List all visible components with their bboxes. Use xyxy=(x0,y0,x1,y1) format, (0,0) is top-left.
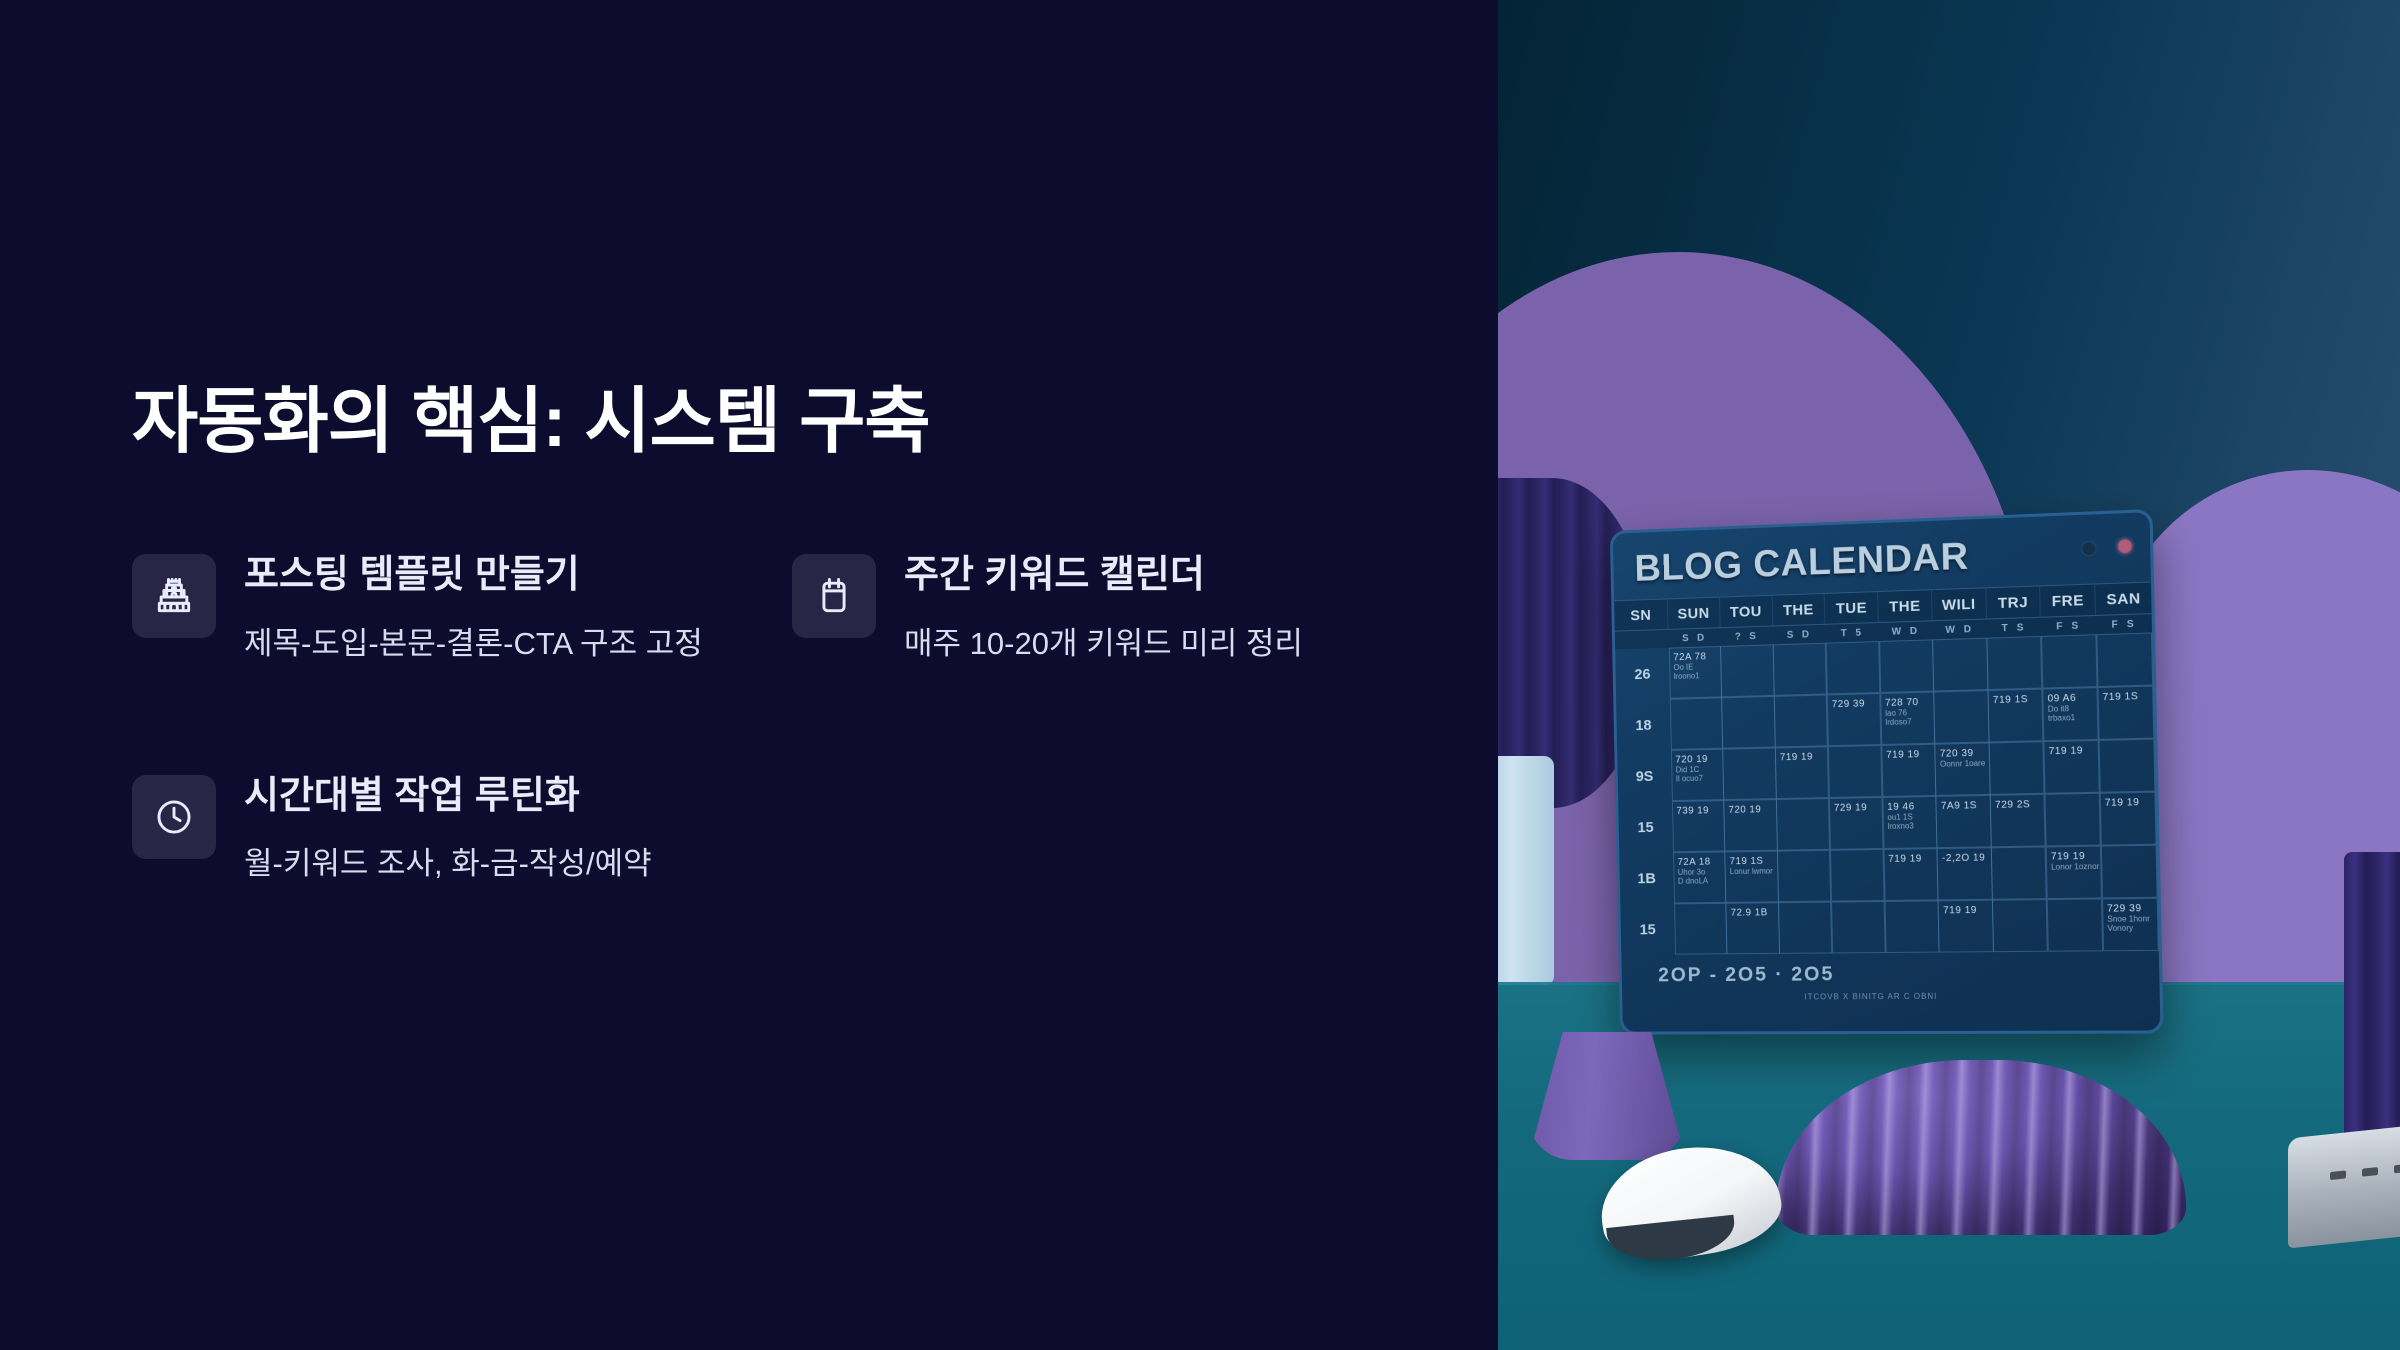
calendar-cell-text: Oonnr 1oare xyxy=(1940,758,1986,768)
calendar-week-number: 15 xyxy=(1618,801,1673,853)
card-body: 주간 키워드 캘린더 매주 10-20개 키워드 미리 정리 xyxy=(904,552,1303,667)
calendar-grid: 2672A 78Oo IElroono118729 39728 70lao 76… xyxy=(1615,632,2159,955)
calendar-cell-text: Lonur lwmor xyxy=(1730,866,1774,876)
calendar-cell xyxy=(1721,695,1775,748)
row-spacer xyxy=(132,667,1432,773)
calendar-subheader: W D xyxy=(1933,620,1987,640)
tablet-footer-sub: ITCOVB X BINITG AR C OBNI xyxy=(1804,991,2159,1002)
calendar-cell: 720 39Oonnr 1oare xyxy=(1935,742,1991,796)
calendar-cell-text: lrdoso7 xyxy=(1885,716,1930,726)
calendar-day-header: SN xyxy=(1614,599,1668,630)
calendar-cell-text: 719 1S xyxy=(2102,690,2149,702)
calendar-cell-text: 719 1S xyxy=(1729,855,1773,867)
calendar-cell: 09 A6Do it8trbaxo1 xyxy=(2042,687,2099,742)
card-description: 제목-도입-본문-결론-CTA 구조 고정 xyxy=(244,620,703,667)
temple-icon xyxy=(152,574,196,618)
left-content-panel: 자동화의 핵심: 시스템 구축 xyxy=(0,0,1498,1350)
calendar-cell-text: lroxno3 xyxy=(1888,821,1933,831)
calendar-day-header: TOU xyxy=(1720,596,1773,627)
calendar-cell-text: 719 19 xyxy=(1943,904,1989,916)
calendar-cell-text: 729 19 xyxy=(1834,802,1879,814)
camera-dot-icon xyxy=(2081,541,2097,557)
clock-icon xyxy=(152,795,196,839)
calendar-cell: 72.9 1B xyxy=(1726,902,1780,955)
calendar-cell-text: 719 19 xyxy=(2051,850,2098,862)
calendar-cell: 729 39 xyxy=(1827,692,1882,746)
slide-root: 자동화의 핵심: 시스템 구축 xyxy=(0,0,2400,1350)
calendar-cell xyxy=(1987,635,2043,690)
calendar-cell-text: 719 19 xyxy=(1888,853,1933,865)
card-description: 매주 10-20개 키워드 미리 정리 xyxy=(904,620,1303,667)
calendar-cell: 729 19 xyxy=(1829,796,1884,849)
calendar-cell xyxy=(1989,741,2045,795)
calendar-cell xyxy=(1674,902,1728,954)
calendar-subheader xyxy=(1615,630,1669,649)
calendar-week-number: 18 xyxy=(1616,699,1671,751)
calendar-week-number: 9S xyxy=(1617,750,1672,802)
tablet-footer-main: 2OP - 2O5 · 2O5 xyxy=(1658,961,2160,987)
tablet-device: BLOG CALENDAR SNSUNTOUTHETUETHEWILITRJFR… xyxy=(1610,509,2164,1035)
feature-card-routine[interactable]: 시간대별 작업 루틴화 월-키워드 조사, 화-금-작성/예약 xyxy=(132,773,792,888)
calendar-cell: 729 2S xyxy=(1990,793,2046,847)
calendar-cell: 719 19Lonor 1oznor xyxy=(2046,845,2103,899)
card-body: 시간대별 작업 루틴화 월-키워드 조사, 화-금-작성/예약 xyxy=(244,773,652,888)
calendar-cell xyxy=(1831,900,1886,953)
card-row-top: 포스팅 템플릿 만들기 제목-도입-본문-결론-CTA 구조 고정 xyxy=(132,552,1432,667)
card-description: 월-키워드 조사, 화-금-작성/예약 xyxy=(244,840,652,887)
calendar-cell-text: 719 19 xyxy=(2048,745,2095,757)
calendar-cell-text: 719 19 xyxy=(2105,796,2152,808)
calendar-cell: 719 19 xyxy=(2099,791,2156,845)
calendar-cell xyxy=(1932,637,1988,691)
calendar-cell-text: 729 39 xyxy=(1832,698,1877,710)
purple-dome-prop xyxy=(1776,1060,2186,1235)
calendar-cell: 719 1S xyxy=(1988,688,2044,742)
calendar-cell xyxy=(2041,634,2098,689)
temple-icon-box xyxy=(132,554,216,638)
calendar-cell: 739 19 xyxy=(1671,800,1725,853)
calendar-cell: 728 70lao 76lrdoso7 xyxy=(1880,691,1935,745)
calendar-subheader: ? S xyxy=(1720,626,1773,645)
calendar-cell-text: Il ocuo7 xyxy=(1676,773,1720,783)
light-cylinder-prop xyxy=(1498,756,1554,986)
calendar-icon xyxy=(812,574,856,618)
calendar-cell xyxy=(2047,898,2104,952)
status-led-icon xyxy=(2118,539,2132,553)
clock-icon-box xyxy=(132,775,216,859)
calendar-cell xyxy=(1773,642,1827,696)
calendar-subheader: T S xyxy=(1987,618,2042,638)
calendar-day-header: SUN xyxy=(1668,598,1721,629)
calendar-cell xyxy=(1991,846,2047,900)
calendar-cell-text: 19 46 xyxy=(1887,801,1932,813)
calendar-cell-text: 729 39 xyxy=(2107,902,2154,914)
calendar-cell xyxy=(2098,738,2155,793)
ribbed-column-right-prop xyxy=(2344,852,2400,1152)
calendar-cell xyxy=(1934,690,1990,744)
calendar-cell: 19 46ou1 1Slroxno3 xyxy=(1882,795,1937,849)
calendar-cell: 719 1S xyxy=(2097,685,2154,740)
calendar-cell: 72A 18Uhor 3oD dnoLA xyxy=(1673,851,1727,904)
calendar-week-number: 26 xyxy=(1615,648,1670,701)
calendar-cell-text: 719 1S xyxy=(1993,693,2039,705)
calendar-cell xyxy=(2101,844,2158,898)
tablet-footer: 2OP - 2O5 · 2O5 ITCOVB X BINITG AR C OBN… xyxy=(1621,951,2159,1002)
calendar-cell-text: D dnoLA xyxy=(1678,876,1722,885)
calendar-cell: -2,2O 19 xyxy=(1937,847,1993,901)
card-body: 포스팅 템플릿 만들기 제목-도입-본문-결론-CTA 구조 고정 xyxy=(244,552,703,667)
tablet-title: BLOG CALENDAR xyxy=(1634,535,1969,590)
feature-card-calendar[interactable]: 주간 키워드 캘린더 매주 10-20개 키워드 미리 정리 xyxy=(792,552,1432,667)
calendar-cell-text: 72A 18 xyxy=(1677,856,1721,868)
calendar-cell: 719 19 xyxy=(1883,848,1938,901)
calendar-cell xyxy=(1992,899,2048,953)
calendar-cell: 719 19 xyxy=(1938,899,1994,952)
calendar-day-header: SAN xyxy=(2096,583,2152,615)
laptop-port-icon xyxy=(2362,1167,2378,1177)
calendar-cell xyxy=(1778,901,1832,954)
calendar-day-header: TUE xyxy=(1825,592,1879,624)
card-title: 포스팅 템플릿 만들기 xyxy=(244,554,703,598)
feature-card-template[interactable]: 포스팅 템플릿 만들기 제목-도입-본문-결론-CTA 구조 고정 xyxy=(132,552,792,667)
calendar-cell xyxy=(1720,644,1774,698)
calendar-cell xyxy=(1722,747,1776,800)
calendar-cell-text: 729 2S xyxy=(1995,798,2041,810)
calendar-cell: 719 19 xyxy=(1881,743,1936,797)
calendar-day-header: WILI xyxy=(1932,588,1987,620)
calendar-subheader: F S xyxy=(2041,616,2096,636)
calendar-cell-text: -2,2O 19 xyxy=(1942,852,1988,864)
calendar-cell xyxy=(1777,849,1831,902)
calendar-cell-text: Vonory xyxy=(2107,923,2154,933)
calendar-cell-text: 719 19 xyxy=(1886,748,1931,760)
calendar-cell xyxy=(2096,632,2153,687)
calendar-cell: 719 1SLonur lwmor xyxy=(1725,850,1779,903)
page-title: 자동화의 핵심: 시스템 구축 xyxy=(132,381,930,464)
laptop-edge xyxy=(2288,1117,2400,1248)
calendar-cell-text: 720 19 xyxy=(1728,804,1772,816)
calendar-cell: 729 39Snoe 1honrVonory xyxy=(2102,897,2159,951)
laptop-port-icon xyxy=(2394,1164,2400,1174)
calendar-week-number: 1B xyxy=(1619,852,1674,904)
calendar-cell xyxy=(1828,744,1883,798)
calendar-cell xyxy=(1669,697,1723,750)
calendar-week-number: 15 xyxy=(1620,903,1675,955)
calendar-cell xyxy=(1830,848,1885,901)
card-row-bottom: 시간대별 작업 루틴화 월-키워드 조사, 화-금-작성/예약 xyxy=(132,773,1432,888)
calendar-icon-box xyxy=(792,554,876,638)
calendar-cell: 7A9 1S xyxy=(1936,794,1992,848)
calendar-subheader: S D xyxy=(1668,628,1720,647)
calendar-cell: 720 19Did 1CIl ocuo7 xyxy=(1670,748,1724,801)
calendar-cell: 720 19 xyxy=(1723,799,1777,852)
calendar-cell: 719 19 xyxy=(1775,746,1829,799)
calendar-subheader: S D xyxy=(1773,625,1826,645)
calendar-cell-text: 7A9 1S xyxy=(1941,799,1987,811)
feature-card-grid: 포스팅 템플릿 만들기 제목-도입-본문-결론-CTA 구조 고정 xyxy=(132,552,1432,888)
calendar-day-header: FRE xyxy=(2041,584,2097,616)
calendar-cell xyxy=(2044,792,2101,846)
calendar-cell: 72A 78Oo IElroono1 xyxy=(1668,645,1722,698)
calendar-day-header: TRJ xyxy=(1986,586,2041,618)
laptop-port-icon xyxy=(2330,1170,2346,1180)
calendar-cell-text: 719 19 xyxy=(1780,751,1825,763)
calendar-cell xyxy=(1884,900,1939,953)
calendar-cell xyxy=(1826,641,1881,695)
calendar-cell-text: Lonor 1oznor xyxy=(2051,861,2098,871)
calendar-cell xyxy=(1774,694,1828,748)
calendar-cell xyxy=(1879,639,1934,693)
calendar-cell-text: 739 19 xyxy=(1676,805,1720,817)
calendar-cell: 719 19 xyxy=(2043,739,2100,793)
card-title: 주간 키워드 캘린더 xyxy=(904,554,1303,598)
calendar-subheader: T 5 xyxy=(1826,623,1880,643)
calendar-day-header: THE xyxy=(1878,590,1932,622)
calendar-subheader: W D xyxy=(1879,621,1933,641)
card-title: 시간대별 작업 루틴화 xyxy=(244,775,652,819)
calendar-cell-text: lroono1 xyxy=(1674,670,1718,680)
calendar-cell-text: 72.9 1B xyxy=(1731,907,1775,918)
calendar-cell xyxy=(1776,798,1830,851)
calendar-day-header: THE xyxy=(1772,594,1825,626)
calendar-cell-text: Snoe 1honr xyxy=(2107,914,2154,924)
hero-photo: BLOG CALENDAR SNSUNTOUTHETUETHEWILITRJFR… xyxy=(1498,0,2400,1350)
calendar-subheader: F S xyxy=(2096,614,2152,634)
calendar-cell-text: trbaxo1 xyxy=(2048,712,2095,722)
